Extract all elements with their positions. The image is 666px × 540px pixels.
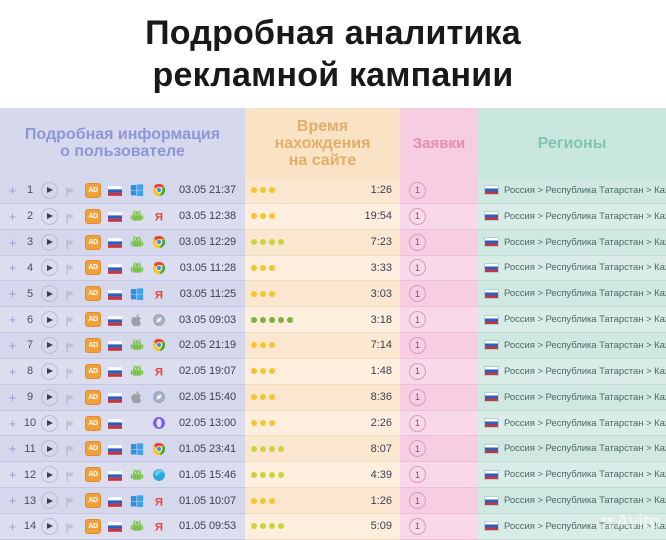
play-icon [47,187,53,193]
cell-region: Россия > Республика Татарстан > Казань [478,359,666,385]
flag-icon[interactable] [65,443,76,454]
flag-icon[interactable] [65,314,76,325]
cell-region: Россия > Республика Татарстан > Казань [478,307,666,333]
engagement-dot [260,239,266,245]
engagement-dots [251,291,275,297]
flag-icon[interactable] [65,288,76,299]
cell-time-on-site: 1:26 [245,488,400,514]
engagement-dot [269,420,275,426]
session-duration: 3:03 [371,288,392,300]
play-recording-button[interactable] [41,285,58,302]
flag-icon[interactable] [65,495,76,506]
flag-icon[interactable] [65,237,76,248]
engagement-dot [260,420,266,426]
engagement-dot [251,342,257,348]
flag-icon[interactable] [65,262,76,273]
cell-leads: 1 [400,333,478,359]
russia-flag-icon [484,340,499,350]
expand-row-icon[interactable]: + [6,339,19,352]
ad-badge: AD [85,416,101,431]
expand-row-icon[interactable]: + [6,442,19,455]
svg-text:Я: Я [155,212,163,224]
russia-flag-icon [484,521,499,531]
engagement-dot [269,213,275,219]
safari-icon [152,390,166,404]
row-number: 10 [19,417,41,429]
visit-timestamp: 01.05 23:41 [179,443,245,455]
engagement-dot [260,446,266,452]
lead-count-badge: 1 [409,311,426,328]
windows-icon [130,183,144,197]
table-row[interactable]: +12AD01.05 15:464:391Россия > Республика… [0,462,666,488]
cell-leads: 1 [400,385,478,411]
cell-time-on-site: 2:26 [245,411,400,437]
cell-user-info: +13ADЯ01.05 10:07 [0,488,245,514]
play-icon [47,498,53,504]
yandex-browser-icon: Я [152,519,166,533]
ad-badge: AD [85,441,101,456]
engagement-dot [269,187,275,193]
yandex-browser-icon: Я [152,494,166,508]
cell-user-info: +10AD02.05 13:00 [0,411,245,437]
session-duration: 7:23 [371,236,392,248]
cell-time-on-site: 1:26 [245,178,400,204]
chrome-icon [152,235,166,249]
russia-flag-icon [484,289,499,299]
engagement-dot [251,291,257,297]
visit-timestamp: 03.05 12:38 [179,210,245,222]
table-row[interactable]: +10AD02.05 13:002:261Россия > Республика… [0,411,666,437]
analytics-screenshot: Подробная аналитика рекламной кампании П… [0,0,666,540]
visit-timestamp: 03.05 09:03 [179,314,245,326]
cell-leads: 1 [400,178,478,204]
lead-count-badge: 1 [409,234,426,251]
cell-region: Россия > Республика Татарстан > Казань [478,411,666,437]
engagement-dots [251,213,275,219]
russia-flag-icon [108,209,122,223]
android-icon [130,468,144,482]
row-number: 1 [19,184,41,196]
visit-timestamp: 01.05 09:53 [179,520,245,532]
visit-timestamp: 02.05 19:07 [179,365,245,377]
engagement-dots [251,265,275,271]
cell-region: Россия > Республика Татарстан > Казань [478,514,666,540]
flag-icon[interactable] [65,340,76,351]
engagement-dot [260,342,266,348]
svg-text:Я: Я [155,522,163,534]
play-recording-button[interactable] [41,492,58,509]
engagement-dots [251,342,275,348]
region-label: Россия > Республика Татарстан > Казань [504,185,666,196]
flag-icon[interactable] [65,366,76,377]
engagement-dot [278,523,284,529]
table-row[interactable]: +7AD02.05 21:197:141Россия > Республика … [0,333,666,359]
play-icon [47,394,53,400]
flag-icon[interactable] [65,469,76,480]
table-body: +1AD03.05 21:371:261Россия > Республика … [0,178,666,540]
russia-flag-icon [108,183,122,197]
flag-icon[interactable] [65,392,76,403]
play-recording-button[interactable] [41,389,58,406]
lead-count-badge: 1 [409,492,426,509]
table-row[interactable]: +4AD03.05 11:283:331Россия > Республика … [0,256,666,282]
lead-count-badge: 1 [409,259,426,276]
row-number: 9 [19,391,41,403]
engagement-dot [260,472,266,478]
android-icon [130,364,144,378]
cell-leads: 1 [400,411,478,437]
cell-region: Россия > Республика Татарстан > Казань [478,178,666,204]
russia-flag-icon [108,416,122,430]
visit-timestamp: 03.05 11:25 [180,288,245,300]
lead-count-badge: 1 [409,182,426,199]
windows-icon [130,494,144,508]
play-icon [47,317,53,323]
session-duration: 8:07 [371,443,392,455]
cell-time-on-site: 1:48 [245,359,400,385]
cell-user-info: +7AD02.05 21:19 [0,333,245,359]
android-icon [130,261,144,275]
table-row[interactable]: +14ADЯ01.05 09:535:091Россия > Республик… [0,514,666,540]
visit-timestamp: 02.05 21:19 [179,339,245,351]
row-number: 7 [19,339,41,351]
row-number: 2 [19,210,41,222]
expand-row-icon[interactable]: + [6,520,19,533]
flag-icon[interactable] [65,521,76,532]
engagement-dots [251,394,275,400]
expand-row-icon[interactable]: + [6,417,19,430]
engagement-dot [260,265,266,271]
cell-time-on-site: 3:18 [245,307,400,333]
play-recording-button[interactable] [41,466,58,483]
play-recording-button[interactable] [41,415,58,432]
cell-leads: 1 [400,281,478,307]
ad-badge: AD [85,364,101,379]
page-title: Подробная аналитика рекламной кампании [0,0,666,108]
engagement-dot [269,498,275,504]
region-label: Россия > Республика Татарстан > Казань [504,366,666,377]
apple-icon [130,390,144,404]
play-recording-button[interactable] [41,182,58,199]
table-header-row: Подробная информация о пользователе Врем… [0,108,666,178]
chrome-icon [152,261,166,275]
row-number: 3 [19,236,41,248]
play-icon [47,213,53,219]
russia-flag-icon [108,235,122,249]
engagement-dot [269,472,275,478]
play-icon [47,239,53,245]
region-label: Россия > Республика Татарстан > Казань [504,314,666,325]
visit-timestamp: 01.05 10:07 [179,495,245,507]
cell-time-on-site: 4:39 [245,462,400,488]
ad-badge: AD [85,209,101,224]
play-recording-button[interactable] [41,337,58,354]
cell-time-on-site: 19:54 [245,204,400,230]
table-row[interactable]: +6AD03.05 09:033:181Россия > Республика … [0,307,666,333]
engagement-dot [260,498,266,504]
russia-flag-icon [484,366,499,376]
android-icon [130,338,144,352]
cell-leads: 1 [400,514,478,540]
yandex-browser-icon: Я [152,209,166,223]
engagement-dot [251,420,257,426]
engagement-dot [269,394,275,400]
lead-count-badge: 1 [409,389,426,406]
column-header-time-line-2: нахождения [275,135,371,152]
android-icon [130,235,144,249]
engagement-dot [251,498,257,504]
row-number: 6 [19,314,41,326]
russia-flag-icon [484,470,499,480]
ad-badge: AD [85,493,101,508]
engagement-dot [269,291,275,297]
table-row[interactable]: +5ADЯ03.05 11:253:031Россия > Республика… [0,281,666,307]
table-row[interactable]: +11AD01.05 23:418:071Россия > Республика… [0,436,666,462]
visit-timestamp: 03.05 21:37 [179,184,245,196]
engagement-dot [278,446,284,452]
expand-row-icon[interactable]: + [6,313,19,326]
engagement-dot [260,523,266,529]
flag-icon[interactable] [65,211,76,222]
play-recording-button[interactable] [41,208,58,225]
session-duration: 2:26 [371,417,392,429]
region-label: Россия > Республика Татарстан > Казань [504,521,666,532]
russia-flag-icon [484,444,499,454]
apple-icon [130,313,144,327]
session-duration: 3:33 [371,262,392,274]
cell-region: Россия > Республика Татарстан > Казань [478,204,666,230]
engagement-dot [260,394,266,400]
russia-flag-icon [108,338,122,352]
engagement-dot [269,239,275,245]
table-row[interactable]: +2ADЯ03.05 12:3819:541Россия > Республик… [0,204,666,230]
engagement-dot [260,291,266,297]
cell-region: Россия > Республика Татарстан > Казань [478,385,666,411]
yandex-browser-icon: Я [152,287,166,301]
engagement-dot [251,265,257,271]
android-icon [130,519,144,533]
column-header-user-info-line-1: Подробная информация [25,126,220,143]
ad-badge: AD [85,183,101,198]
cell-leads: 1 [400,436,478,462]
session-duration: 8:36 [371,391,392,403]
cell-user-info: +4AD03.05 11:28 [0,256,245,282]
table-row[interactable]: +3AD03.05 12:297:231Россия > Республика … [0,230,666,256]
engagement-dot [251,446,257,452]
cell-leads: 1 [400,204,478,230]
play-icon [47,342,53,348]
russia-flag-icon [484,237,499,247]
row-number: 4 [19,262,41,274]
play-recording-button[interactable] [41,440,58,457]
session-duration: 1:26 [371,184,392,196]
row-number: 12 [19,469,41,481]
play-icon [47,291,53,297]
expand-row-icon[interactable]: + [6,236,19,249]
cell-time-on-site: 8:07 [245,436,400,462]
row-number: 11 [19,443,41,455]
visit-timestamp: 02.05 15:40 [179,391,245,403]
russia-flag-icon [484,392,499,402]
lead-count-badge: 1 [409,285,426,302]
play-recording-button[interactable] [41,259,58,276]
lead-count-badge: 1 [409,415,426,432]
lead-count-badge: 1 [409,363,426,380]
engagement-dots [251,446,284,452]
expand-row-icon[interactable]: + [6,494,19,507]
session-duration: 1:48 [371,365,392,377]
play-recording-button[interactable] [41,234,58,251]
region-label: Россия > Республика Татарстан > Казань [504,443,666,454]
page-title-line-1: Подробная аналитика [145,12,521,54]
engagement-dot [269,317,275,323]
russia-flag-icon [484,315,499,325]
russia-flag-icon [484,418,499,428]
cell-user-info: +8ADЯ02.05 19:07 [0,359,245,385]
visit-timestamp: 03.05 12:29 [179,236,245,248]
session-duration: 3:18 [371,314,392,326]
cell-time-on-site: 3:33 [245,256,400,282]
engagement-dot [278,472,284,478]
cell-user-info: +3AD03.05 12:29 [0,230,245,256]
cell-region: Россия > Республика Татарстан > Казань [478,333,666,359]
table-row[interactable]: +13ADЯ01.05 10:071:261Россия > Республик… [0,488,666,514]
row-number: 5 [19,288,41,300]
expand-row-icon[interactable]: + [6,261,19,274]
lead-count-badge: 1 [409,518,426,535]
cell-leads: 1 [400,230,478,256]
ad-badge: AD [85,467,101,482]
yandex-browser-icon: Я [152,364,166,378]
cell-user-info: +12AD01.05 15:46 [0,462,245,488]
expand-row-icon[interactable]: + [6,365,19,378]
session-duration: 1:26 [371,495,392,507]
analytics-table: Подробная информация о пользователе Врем… [0,108,666,540]
play-icon [47,446,53,452]
ad-badge: AD [85,338,101,353]
ad-badge: AD [85,390,101,405]
cell-region: Россия > Республика Татарстан > Казань [478,256,666,282]
expand-row-icon[interactable]: + [6,287,19,300]
column-header-leads: Заявки [400,108,478,178]
cell-leads: 1 [400,307,478,333]
engagement-dot [287,317,293,323]
windows-icon [130,287,144,301]
engagement-dots [251,420,275,426]
play-recording-button[interactable] [41,311,58,328]
ad-badge: AD [85,286,101,301]
engagement-dot [251,213,257,219]
table-row[interactable]: +1AD03.05 21:371:261Россия > Республика … [0,178,666,204]
column-header-regions: Регионы [478,108,666,178]
play-recording-button[interactable] [41,518,58,535]
cell-time-on-site: 7:23 [245,230,400,256]
chrome-icon [152,442,166,456]
cell-user-info: +2ADЯ03.05 12:38 [0,204,245,230]
region-label: Россия > Республика Татарстан > Казань [504,495,666,506]
cell-leads: 1 [400,359,478,385]
engagement-dot [269,523,275,529]
russia-flag-icon [108,519,122,533]
row-number: 14 [19,520,41,532]
engagement-dot [251,187,257,193]
russia-flag-icon [108,468,122,482]
safari-icon [152,313,166,327]
ad-badge: AD [85,519,101,534]
flag-icon[interactable] [65,185,76,196]
svg-text:Я: Я [155,367,163,379]
cell-region: Россия > Республика Татарстан > Казань [478,281,666,307]
engagement-dot [251,317,257,323]
flag-icon[interactable] [65,418,76,429]
expand-row-icon[interactable]: + [6,210,19,223]
engagement-dot [269,368,275,374]
cell-region: Россия > Республика Татарстан > Казань [478,488,666,514]
russia-flag-icon [108,261,122,275]
play-icon [47,265,53,271]
session-duration: 7:14 [371,339,392,351]
engagement-dot [260,187,266,193]
engagement-dot [269,446,275,452]
engagement-dots [251,187,275,193]
chrome-icon [152,338,166,352]
lead-count-badge: 1 [409,337,426,354]
table-row[interactable]: +8ADЯ02.05 19:071:481Россия > Республика… [0,359,666,385]
cell-region: Россия > Республика Татарстан > Казань [478,436,666,462]
firefox-icon [152,468,166,482]
cell-region: Россия > Республика Татарстан > Казань [478,462,666,488]
russia-flag-icon [484,496,499,506]
windows-icon [130,442,144,456]
russia-flag-icon [484,263,499,273]
page-title-line-2: рекламной кампании [153,54,514,96]
chrome-icon [152,183,166,197]
engagement-dot [260,317,266,323]
engagement-dots [251,368,275,374]
russia-flag-icon [108,442,122,456]
engagement-dots [251,523,284,529]
engagement-dot [251,239,257,245]
ad-badge: AD [85,312,101,327]
expand-row-icon[interactable]: + [6,468,19,481]
cell-time-on-site: 7:14 [245,333,400,359]
russia-flag-icon [108,494,122,508]
table-row[interactable]: +9AD02.05 15:408:361Россия > Республика … [0,385,666,411]
engagement-dot [269,265,275,271]
engagement-dots [251,498,275,504]
engagement-dot [278,239,284,245]
expand-row-icon[interactable]: + [6,391,19,404]
russia-flag-icon [108,313,122,327]
cell-time-on-site: 8:36 [245,385,400,411]
cell-user-info: +1AD03.05 21:37 [0,178,245,204]
visit-timestamp: 01.05 15:46 [179,469,245,481]
android-icon [130,209,144,223]
visit-timestamp: 03.05 11:28 [180,262,245,274]
cell-leads: 1 [400,462,478,488]
cell-leads: 1 [400,488,478,514]
region-label: Россия > Республика Татарстан > Казань [504,288,666,299]
play-recording-button[interactable] [41,363,58,380]
expand-row-icon[interactable]: + [6,184,19,197]
column-header-user-info-line-2: о пользователе [25,143,220,160]
column-header-time-on-site: Время нахождения на сайте [245,108,400,178]
region-label: Россия > Республика Татарстан > Казань [504,392,666,403]
svg-text:Я: Я [155,496,163,508]
engagement-dot [278,317,284,323]
lead-count-badge: 1 [409,208,426,225]
row-number: 13 [19,495,41,507]
